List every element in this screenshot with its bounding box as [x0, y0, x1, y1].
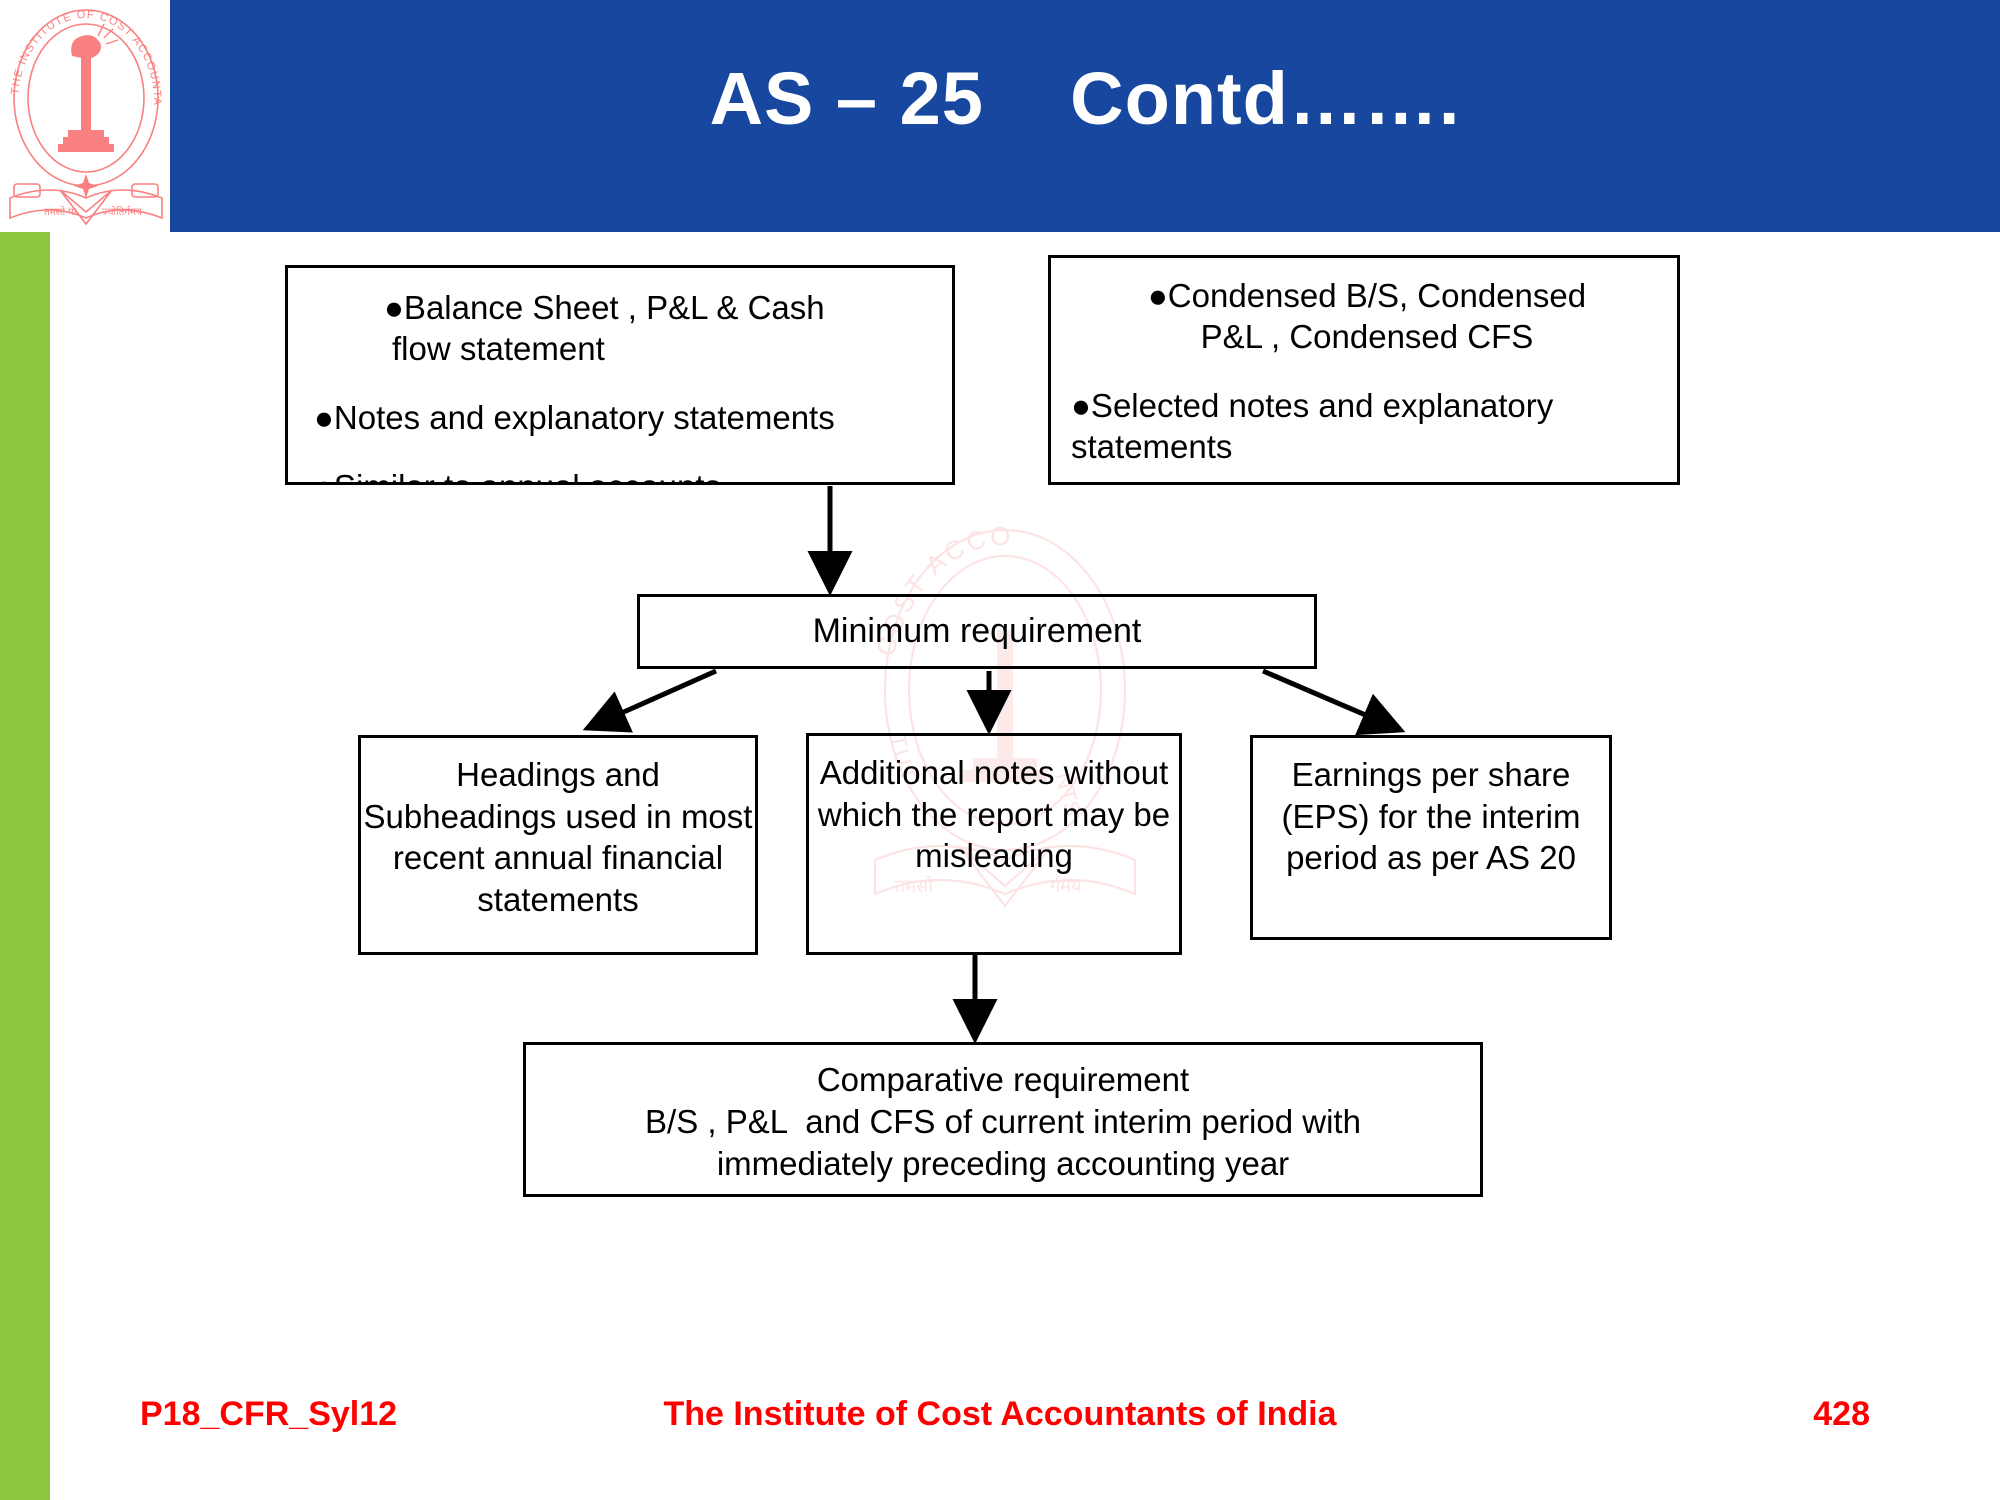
box-right-line-1b: P&L , Condensed CFS [1059, 317, 1675, 358]
box-headings-label: Headings and Subheadings used in most re… [361, 754, 755, 920]
box-left-line-1: ●Balance Sheet , P&L & Cash [296, 288, 950, 329]
box-right-line-2b: statements [1059, 427, 1675, 468]
box-comparative-line-2: B/S , P&L and CFS of current interim per… [526, 1101, 1480, 1143]
box-minimum-label: Minimum requirement [640, 611, 1314, 652]
box-right-line-1: ●Condensed B/S, Condensed [1059, 276, 1675, 317]
box-minimum-requirement: Minimum requirement [637, 594, 1317, 669]
institute-logo-icon: तमसो मा ज्योतिर्गमय THE INSTITUTE OF COS… [2, 2, 170, 230]
svg-text:ज्योतिर्गमय: ज्योतिर्गमय [102, 206, 142, 218]
footer-page-number: 428 [1813, 1395, 1870, 1434]
institute-logo: तमसो मा ज्योतिर्गमय THE INSTITUTE OF COS… [2, 2, 170, 230]
box-comparative-line-3: immediately preceding accounting year [526, 1143, 1480, 1185]
box-full-statements: ●Balance Sheet , P&L & Cash flow stateme… [285, 265, 955, 485]
arrow-minimum-to-eps [1263, 671, 1398, 729]
slide-canvas: AS – 25 Contd……. [0, 0, 2000, 1500]
box-additional-notes-label: Additional notes without which the repor… [809, 752, 1179, 877]
box-comparative-requirement: Comparative requirement B/S , P&L and CF… [523, 1042, 1483, 1197]
box-eps-label: Earnings per share (EPS) for the interim… [1253, 754, 1609, 879]
box-earnings-per-share: Earnings per share (EPS) for the interim… [1250, 735, 1612, 940]
box-right-line-2: ●Selected notes and explanatory [1059, 386, 1675, 427]
box-left-line-2: ●Notes and explanatory statements [296, 398, 950, 439]
box-left-line-3: ●Similar to annual accounts [296, 467, 950, 485]
box-additional-notes: Additional notes without which the repor… [806, 733, 1182, 955]
arrow-minimum-to-headings [590, 671, 716, 727]
svg-text:तमसो मा: तमसो मा [44, 206, 77, 218]
left-accent-strip [0, 232, 50, 1500]
box-comparative-line-1: Comparative requirement [526, 1059, 1480, 1101]
box-left-line-1b: flow statement [296, 329, 950, 370]
page-title: AS – 25 Contd……. [170, 58, 2000, 139]
box-condensed-statements: ●Condensed B/S, Condensed P&L , Condense… [1048, 255, 1680, 485]
footer-institute-name: The Institute of Cost Accountants of Ind… [0, 1395, 2000, 1434]
box-headings-subheadings: Headings and Subheadings used in most re… [358, 735, 758, 955]
slide-footer: P18_CFR_Syl12 The Institute of Cost Acco… [0, 1395, 2000, 1465]
